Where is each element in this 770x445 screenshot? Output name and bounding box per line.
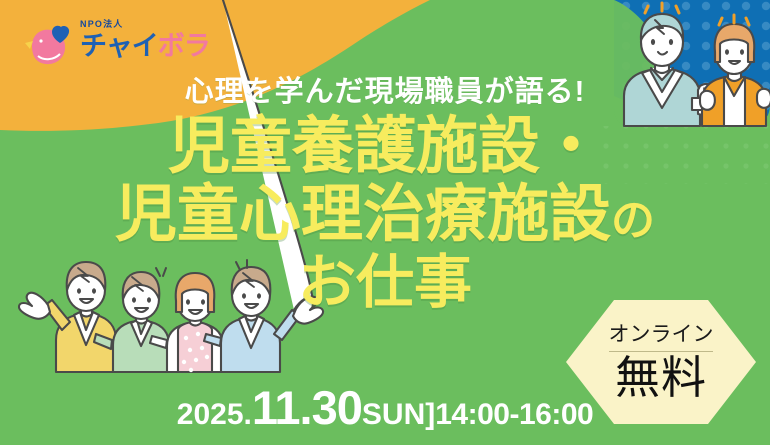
event-year: 2025. bbox=[177, 398, 252, 431]
badge-bottom-label: 無料 bbox=[615, 353, 707, 403]
badge-top-label: オンライン bbox=[609, 322, 714, 348]
event-subtitle: 心理を学んだ現場職員が語る! bbox=[0, 74, 770, 110]
price-badge: オンライン 無料 bbox=[562, 296, 760, 428]
brand-name-part2: ボラ bbox=[158, 31, 210, 61]
headline-block: 心理を学んだ現場職員が語る! 児童養護施設・ 児童心理治療施設の お仕事 bbox=[0, 74, 770, 312]
event-title-line-2-suffix: の bbox=[611, 196, 655, 245]
logo-wordmark: NPO法人 チャイボラ bbox=[80, 18, 200, 61]
event-day-of-week: SUN] bbox=[362, 398, 435, 431]
event-title-line-2: 児童心理治療施設の bbox=[0, 184, 770, 246]
npo-label: NPO法人 bbox=[80, 18, 200, 30]
event-banner: NPO法人 チャイボラ 心理を学んだ現場職員が語る! 児童養護施設・ 児童心理治… bbox=[0, 0, 770, 445]
bird-heart-mark bbox=[22, 24, 78, 68]
brand-name: チャイボラ bbox=[80, 31, 200, 61]
organization-logo[interactable]: NPO法人 チャイボラ bbox=[22, 16, 202, 74]
badge-content: オンライン 無料 bbox=[562, 296, 760, 428]
event-title-line-1: 児童養護施設・ bbox=[0, 116, 770, 178]
event-month-day: 11.30 bbox=[252, 381, 362, 434]
brand-name-part1: チャイ bbox=[80, 31, 158, 61]
event-title-line-2-main: 児童心理治療施設 bbox=[115, 180, 611, 249]
